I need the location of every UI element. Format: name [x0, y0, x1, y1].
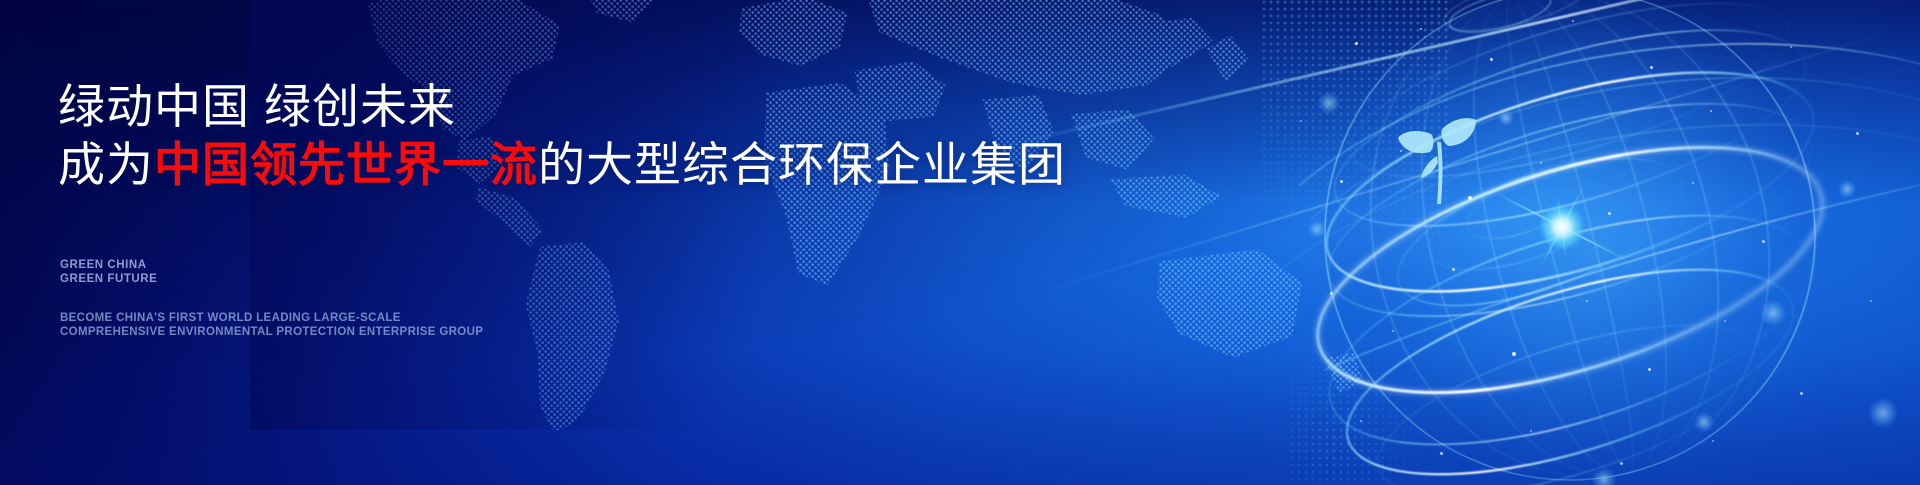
subtitle-line-1: GREEN CHINA [60, 258, 157, 272]
headline-accent-text: 中国领先世界一流 [154, 138, 538, 191]
hero-banner: 绿动中国 绿创未来 成为中国领先世界一流的大型综合环保企业集团 GREEN CH… [0, 0, 1920, 485]
caption-line-2: COMPREHENSIVE ENVIRONMENTAL PROTECTION E… [60, 325, 483, 339]
headline-line-2: 成为中国领先世界一流的大型综合环保企业集团 [58, 136, 1066, 194]
wireframe-globe [1270, 0, 1920, 485]
caption-line-1: BECOME CHINA'S FIRST WORLD LEADING LARGE… [60, 311, 483, 325]
subtitle-english: GREEN CHINA GREEN FUTURE [60, 258, 157, 286]
headline-line-1: 绿动中国 绿创未来 [58, 80, 456, 133]
headline-line2-prefix: 成为 [58, 138, 154, 191]
caption-english: BECOME CHINA'S FIRST WORLD LEADING LARGE… [60, 311, 483, 339]
headline-line2-suffix: 的大型综合环保企业集团 [538, 138, 1066, 191]
banner-copy: 绿动中国 绿创未来 成为中国领先世界一流的大型综合环保企业集团 GREEN CH… [0, 0, 1100, 485]
headline: 绿动中国 绿创未来 成为中国领先世界一流的大型综合环保企业集团 [58, 78, 1066, 194]
subtitle-line-2: GREEN FUTURE [60, 272, 157, 286]
